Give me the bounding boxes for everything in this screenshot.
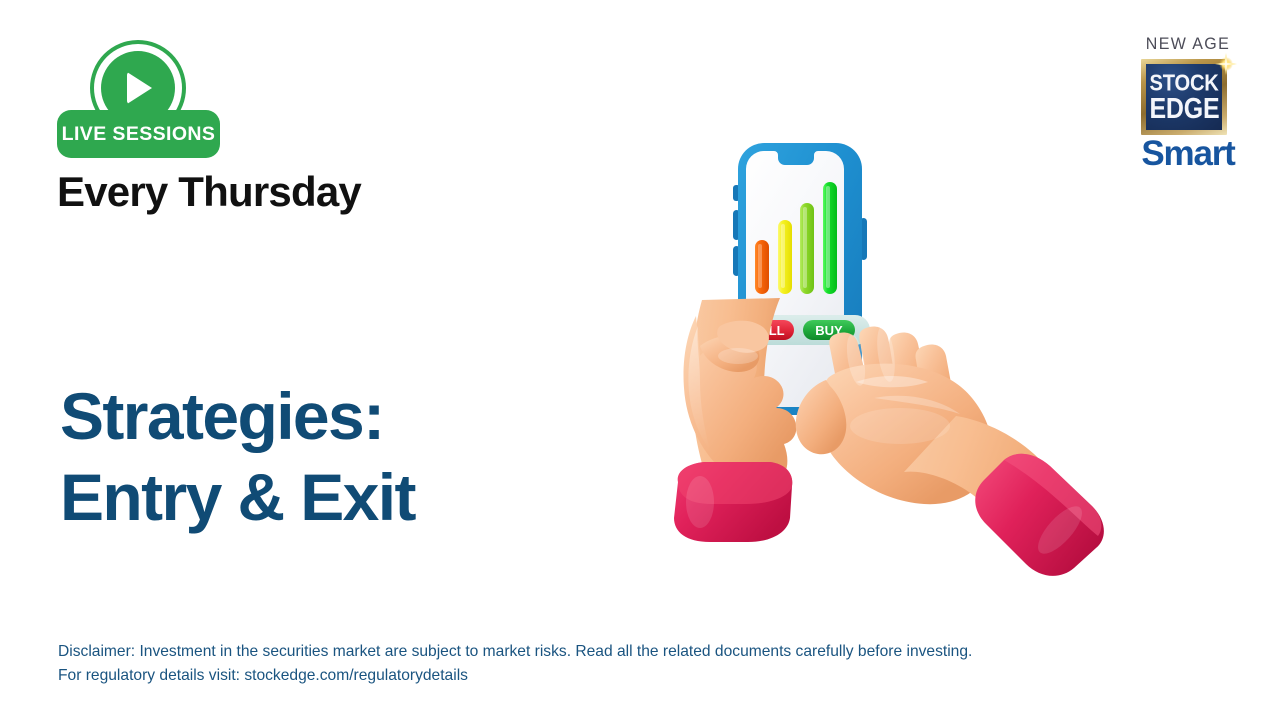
disclaimer-text: Disclaimer: Investment in the securities… [58, 640, 972, 687]
hands-phone-illustration: SELL BUY [660, 130, 1140, 600]
logo-product-name: Smart [1136, 136, 1240, 171]
live-sessions-badge: LIVE SESSIONS [57, 40, 222, 158]
right-hand-tapping [796, 325, 1104, 576]
logo-tagline: NEW AGE [1140, 36, 1236, 55]
live-sessions-pill: LIVE SESSIONS [57, 110, 220, 158]
right-wrist-cuff [975, 454, 1104, 576]
live-sessions-label: LIVE SESSIONS [62, 123, 216, 146]
left-wrist-cuff [674, 462, 792, 542]
stockedge-smart-logo: NEW AGE STOCK EDGE Smart [1128, 36, 1244, 171]
play-triangle-icon [127, 72, 152, 104]
logo-brand-box-inner: STOCK EDGE [1146, 64, 1222, 130]
logo-brand-line-2: EDGE [1149, 94, 1219, 122]
logo-brand-box: STOCK EDGE [1141, 59, 1227, 135]
promo-banner: LIVE SESSIONS Every Thursday Strategies:… [0, 0, 1280, 720]
schedule-text: Every Thursday [57, 168, 361, 216]
page-title: Strategies: Entry & Exit [60, 376, 415, 537]
